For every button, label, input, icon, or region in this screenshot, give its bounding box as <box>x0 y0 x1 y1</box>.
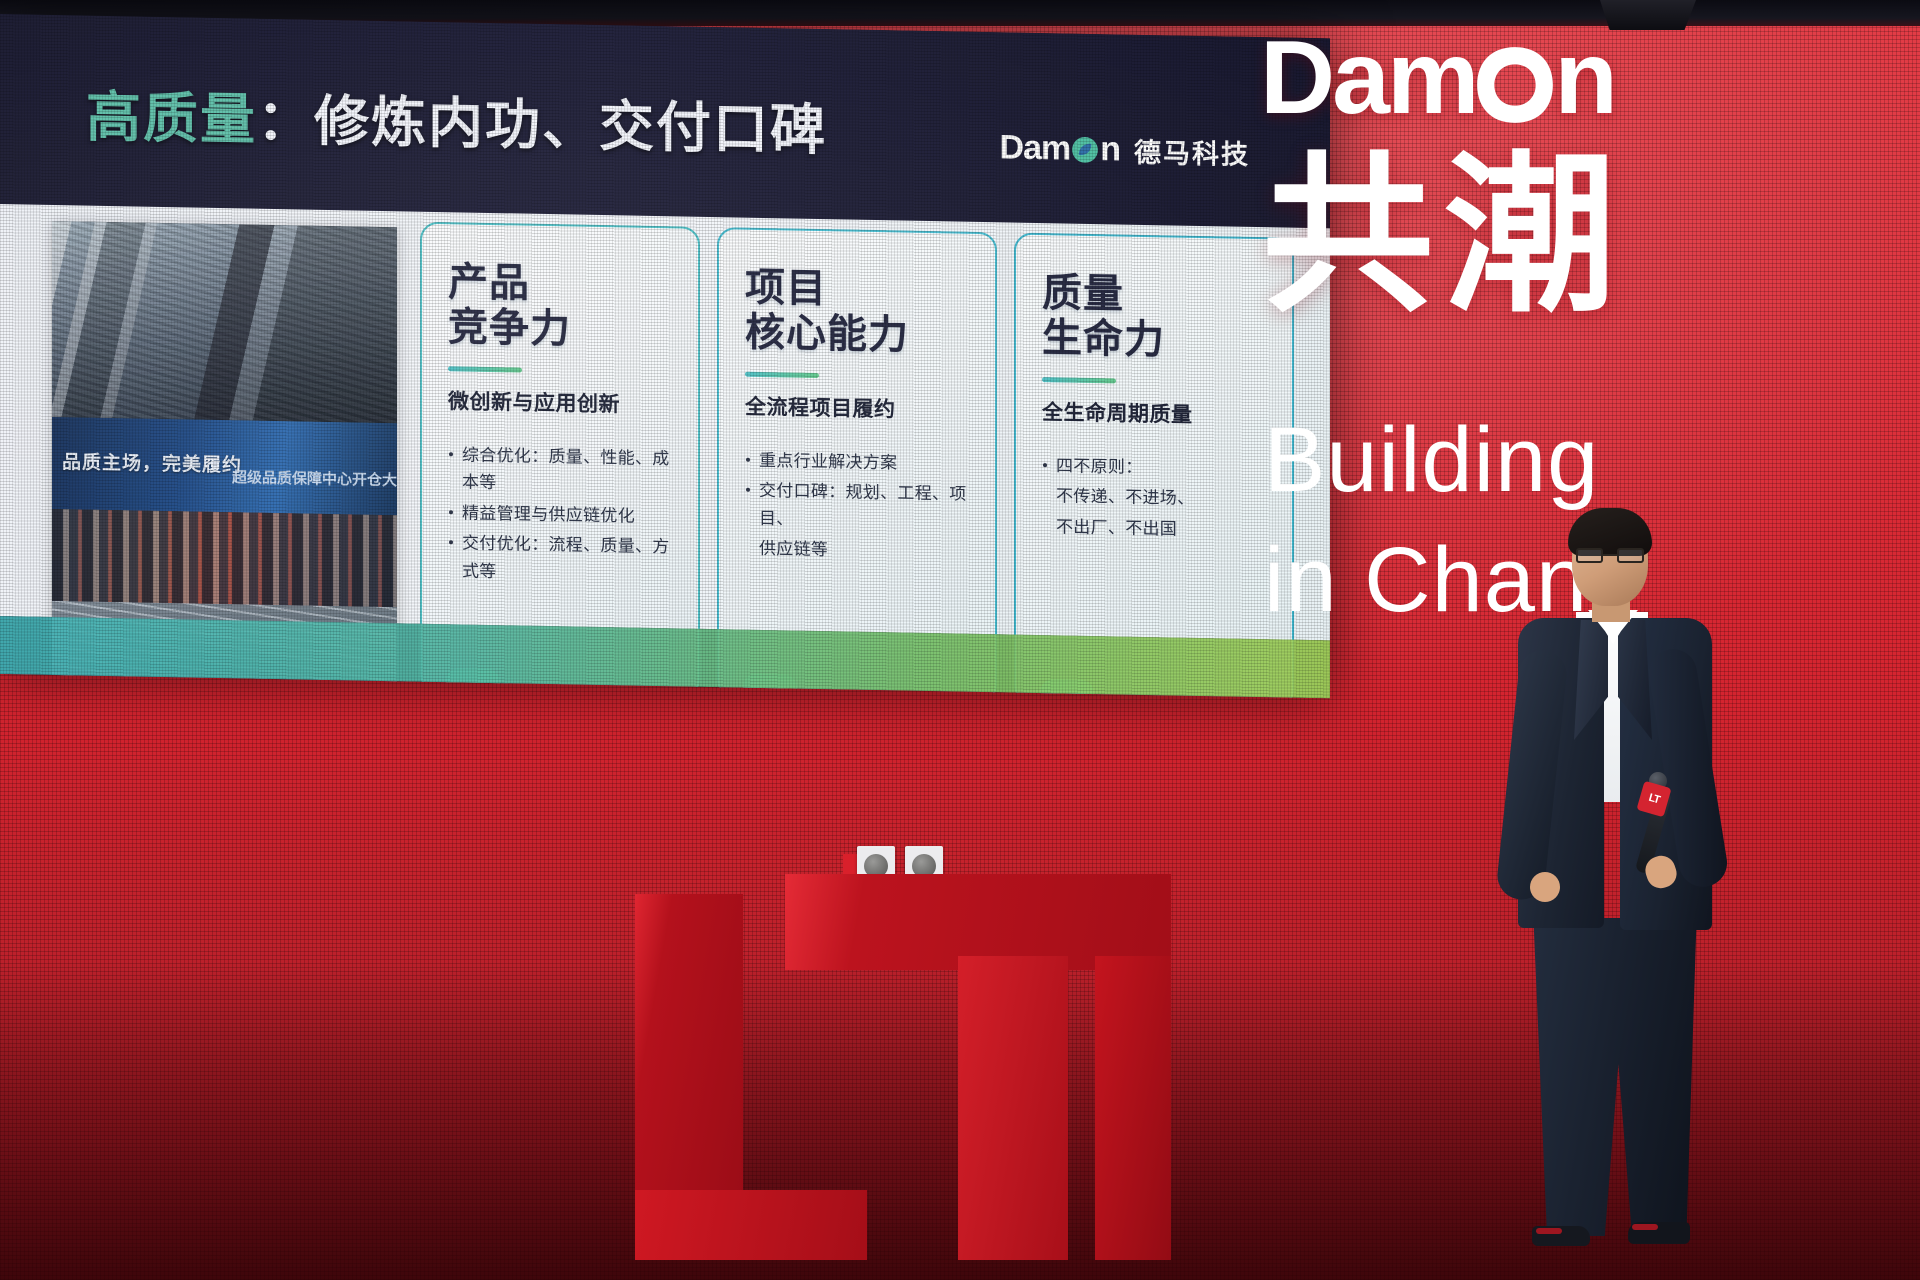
pillar-bullet-list: 重点行业解决方案 交付口碑：规划、工程、项目、 供应链等 <box>745 446 973 566</box>
pillar-card-project: 项目 核心能力 全流程项目履约 重点行业解决方案 交付口碑：规划、工程、项目、 … <box>717 227 997 698</box>
pillar-title-line-2: 竞争力 <box>448 305 676 354</box>
speaker-person: LT <box>1500 500 1730 1260</box>
slide-body: 品质主场，完美履约 超级品质保障中心开仓大吉 产品 竞争力 微创新与应用创新 <box>0 192 1330 640</box>
slide-header-bar: 高质量：修炼内功、交付口碑 Dam n 德马科技 <box>0 14 1330 228</box>
pillar-title: 产品 竞争力 <box>448 260 676 354</box>
list-item: 重点行业解决方案 <box>745 446 973 478</box>
pillar-title: 项目 核心能力 <box>745 266 973 360</box>
list-item: 供应链等 <box>745 535 973 567</box>
speaker-trousers <box>1530 918 1700 1236</box>
pillar-divider <box>1042 377 1116 383</box>
speaker-hand-left <box>1530 872 1560 902</box>
slide-logo: Dam n 德马科技 <box>1000 128 1250 172</box>
pillar-title-line-2: 核心能力 <box>745 310 973 359</box>
speaker-shoe-right <box>1628 1222 1690 1244</box>
glasses-icon <box>1576 548 1644 563</box>
list-item: 精益管理与供应链优化 <box>448 499 676 531</box>
pillar-divider <box>745 371 819 377</box>
list-item: 交付口碑：规划、工程、项目、 <box>745 477 973 536</box>
pillar-divider <box>448 366 522 372</box>
blue-banner-photo: 品质主场，完美履约 超级品质保障中心开仓大吉 <box>52 417 397 515</box>
conference-stage-photo: Dam n 共潮 Building in Chan 高质量：修炼内功、交付口碑 … <box>0 0 1920 1280</box>
brand-wordmark-pre: Dam <box>1260 26 1476 130</box>
pillar-bullet-list: 综合优化：质量、性能、成本等 精益管理与供应链优化 交付优化：流程、质量、方式等 <box>448 441 676 589</box>
pillar-subtitle: 微创新与应用创新 <box>448 385 676 419</box>
damon-leaf-icon <box>1472 41 1558 127</box>
pillar-subtitle: 全流程项目履约 <box>745 390 973 424</box>
slide-title: 高质量：修炼内功、交付口碑 <box>86 72 827 166</box>
banner-photo-subtext: 超级品质保障中心开仓大吉 <box>232 466 397 490</box>
slide-logo-post: n <box>1100 130 1120 169</box>
banner-photo-text: 品质主场，完美履约 <box>62 447 242 477</box>
brand-wordmark-post: n <box>1554 26 1615 130</box>
pillar-title-line-1: 产品 <box>448 260 676 309</box>
list-item: 综合优化：质量、性能、成本等 <box>448 441 676 500</box>
list-item: 交付优化：流程、质量、方式等 <box>448 529 676 588</box>
conveyor-equipment-photo <box>52 221 397 423</box>
speaker-shoe-left <box>1532 1226 1590 1246</box>
projection-screen: 高质量：修炼内功、交付口碑 Dam n 德马科技 <box>0 14 1330 698</box>
pillar-title-line-1: 项目 <box>745 266 973 315</box>
stage-letter-sculpture <box>625 860 1225 1280</box>
slide-title-accent: 高质量 <box>86 86 257 151</box>
slide-logo-pre: Dam <box>1000 128 1071 168</box>
brand-english-line-1: Building <box>1264 408 1599 513</box>
brand-wall-wordmark: Dam n <box>1260 26 1615 130</box>
sculpture-letter-t-right <box>1095 956 1171 1260</box>
slide-logo-wordmark: Dam n <box>1000 128 1120 169</box>
sculpture-letter-l-foot <box>635 1190 867 1260</box>
team-group-photo <box>52 509 397 607</box>
slide-title-main: ：修炼内功、交付口碑 <box>257 89 827 161</box>
brand-chinese-headline: 共潮 <box>1262 150 1626 322</box>
damon-leaf-icon <box>1071 135 1099 164</box>
sculpture-letter-t-stem <box>958 956 1068 1260</box>
